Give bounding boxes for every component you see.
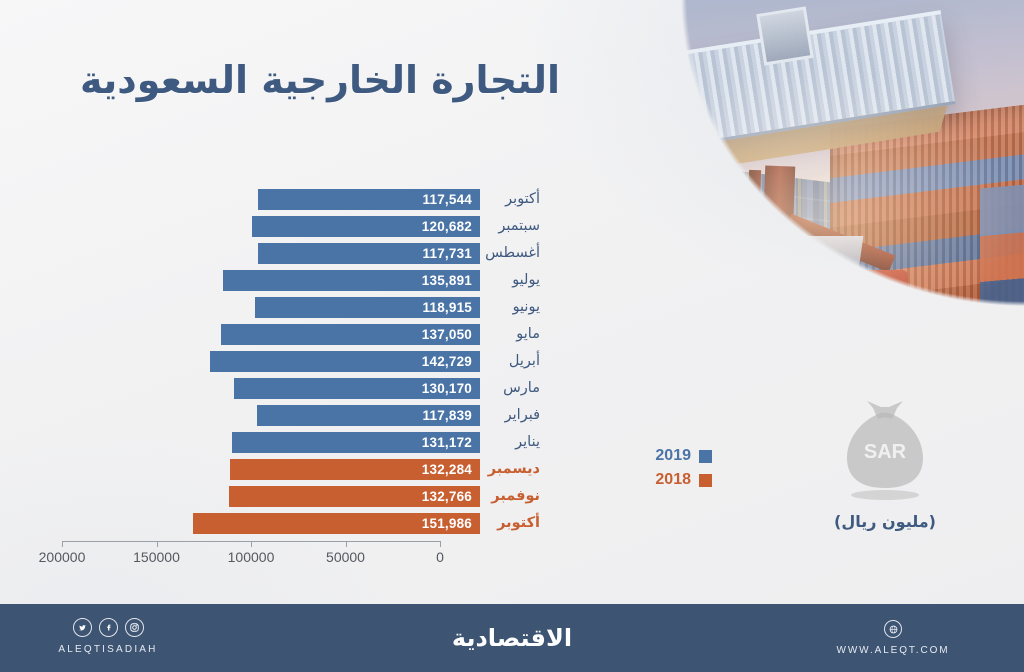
bar-2019-يوليو[interactable]: 135,891 (223, 270, 480, 291)
bar-2019-أغسطس[interactable]: 117,731 (258, 243, 481, 264)
bar-2018-أكتوبر[interactable]: 151,986 (193, 513, 480, 534)
bar-2019-يونيو[interactable]: 118,915 (255, 297, 480, 318)
infographic-canvas: التجارة الخارجية السعودية 117,544أكتوبر1… (0, 0, 1024, 672)
bar-category-label: نوفمبر (484, 485, 540, 507)
axis-tick-label: 0 (436, 549, 444, 565)
bar-value-label: 137,050 (422, 327, 472, 342)
bar-row: 135,891يوليو (40, 267, 540, 294)
warm-light-overlay (570, 0, 1024, 380)
bar-row: 130,170مارس (40, 375, 540, 402)
bar-value-label: 135,891 (422, 273, 472, 288)
footer-website-block: WWW.ALEQT.COM (818, 620, 968, 656)
bar-category-label: سبتمبر (484, 215, 540, 237)
port-container-photo (570, 0, 1024, 380)
legend-swatch-2019 (699, 450, 712, 463)
legend-item-2019[interactable]: 2019 (622, 444, 712, 468)
bar-row: 117,544أكتوبر (40, 186, 540, 213)
bar-2019-مايو[interactable]: 137,050 (221, 324, 480, 345)
axis-tick-label: 200000 (39, 549, 86, 565)
axis-tick (440, 541, 441, 547)
bar-value-label: 151,986 (422, 516, 472, 531)
bar-category-label: أكتوبر (484, 188, 540, 210)
svg-text:SAR: SAR (864, 441, 907, 463)
bar-row: 120,682سبتمبر (40, 213, 540, 240)
bar-value-label: 130,170 (422, 381, 472, 396)
bar-category-label: مايو (484, 323, 540, 345)
unit-label: (مليون ريال) (820, 512, 950, 531)
bar-category-label: مارس (484, 377, 540, 399)
bar-2019-فبراير[interactable]: 117,839 (257, 405, 480, 426)
currency-unit-block: SAR (مليون ريال) (820, 398, 950, 531)
bar-row: 142,729أبريل (40, 348, 540, 375)
bar-2019-أبريل[interactable]: 142,729 (210, 351, 480, 372)
bar-value-label: 120,682 (422, 219, 472, 234)
legend-label-2018: 2018 (655, 471, 691, 489)
bar-2019-سبتمبر[interactable]: 120,682 (252, 216, 480, 237)
bar-2019-مارس[interactable]: 130,170 (234, 378, 480, 399)
bar-value-label: 131,172 (422, 435, 472, 450)
bar-2018-ديسمبر[interactable]: 132,284 (230, 459, 480, 480)
bar-value-label: 118,915 (423, 300, 472, 315)
bar-row: 132,284ديسمبر (40, 456, 540, 483)
bar-category-label: أبريل (484, 350, 540, 372)
bar-category-label: أغسطس (484, 242, 540, 264)
axis-tick (251, 541, 252, 547)
bar-value-label: 132,284 (422, 462, 472, 477)
bar-row: 132,766نوفمبر (40, 483, 540, 510)
bar-2019-يناير[interactable]: 131,172 (232, 432, 480, 453)
axis-tick-label: 50000 (326, 549, 365, 565)
bar-category-label: يوليو (484, 269, 540, 291)
footer-url: WWW.ALEQT.COM (818, 645, 968, 656)
x-axis: 200000150000100000500000 (40, 541, 540, 571)
bar-category-label: فبراير (484, 404, 540, 426)
footer-bar: ALEQTISADIAH الاقتصادية WWW.ALEQT.COM (0, 604, 1024, 672)
photo-illustration (570, 0, 1024, 380)
axis-tick (157, 541, 158, 547)
money-bag-icon: SAR (837, 398, 933, 502)
bar-row: 131,172يناير (40, 429, 540, 456)
bar-row: 118,915يونيو (40, 294, 540, 321)
globe-icon[interactable] (884, 620, 902, 638)
bar-row: 137,050مايو (40, 321, 540, 348)
chart-legend: 2019 2018 (622, 444, 712, 492)
bar-category-label: ديسمبر (484, 458, 540, 480)
axis-tick-label: 150000 (133, 549, 180, 565)
bar-category-label: يونيو (484, 296, 540, 318)
bar-row: 117,839فبراير (40, 402, 540, 429)
legend-item-2018[interactable]: 2018 (622, 468, 712, 492)
bar-value-label: 117,839 (423, 408, 472, 423)
bar-category-label: أكتوبر (484, 512, 540, 534)
page-title: التجارة الخارجية السعودية (80, 58, 560, 102)
axis-tick (346, 541, 347, 547)
bar-value-label: 117,731 (423, 246, 472, 261)
legend-label-2019: 2019 (655, 447, 691, 465)
bar-chart: 117,544أكتوبر120,682سبتمبر117,731أغسطس13… (40, 186, 540, 546)
bar-row: 117,731أغسطس (40, 240, 540, 267)
bar-row: 151,986أكتوبر (40, 510, 540, 537)
axis-tick (62, 541, 63, 547)
bar-2019-أكتوبر[interactable]: 117,544 (258, 189, 480, 210)
bar-value-label: 132,766 (422, 489, 472, 504)
legend-swatch-2018 (699, 474, 712, 487)
axis-tick-label: 100000 (228, 549, 275, 565)
bar-2018-نوفمبر[interactable]: 132,766 (229, 486, 480, 507)
bar-category-label: يناير (484, 431, 540, 453)
bar-value-label: 142,729 (422, 354, 472, 369)
bar-value-label: 117,544 (423, 192, 472, 207)
bar-rows: 117,544أكتوبر120,682سبتمبر117,731أغسطس13… (40, 186, 540, 537)
